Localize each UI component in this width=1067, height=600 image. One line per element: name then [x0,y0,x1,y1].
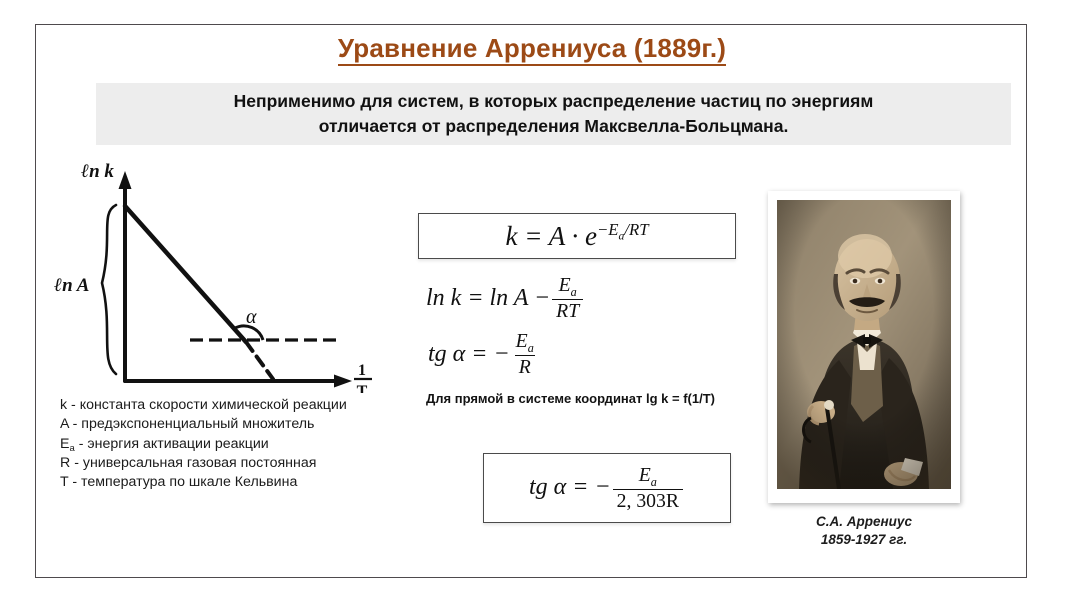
legend-text: - константа скорости химической реакции [71,397,347,413]
x-axis-arrowhead [334,375,352,388]
arrhenius-graph: ℓn k ℓn A α 1 T [50,153,395,393]
brace-label-ln-a: ℓn A [54,275,89,296]
tg-log-equation-box: tg α = − Ea 2, 303R [483,453,731,523]
symbol-legend: k - константа скорости химической реакци… [60,396,410,493]
ln-form-numerator-subscript: a [571,285,577,299]
portrait-caption: С.А. Аррениус 1859-1927 гг. [748,513,980,549]
x-axis-label-denominator: T [357,383,368,393]
tg-form-numerator-subscript: a [528,341,534,355]
tg-log-numerator-symbol: E [639,464,651,486]
x-axis-label-numerator: 1 [358,362,366,379]
ln-form-equation: ln k = ln A − Ea RT [426,275,585,321]
regression-line [125,206,246,342]
portrait-caption-dates: 1859-1927 гг. [748,531,980,549]
subtitle-box: Неприменимо для систем, в которых распре… [96,83,1011,145]
legend-text: - предэкспоненциальный множитель [73,416,315,432]
legend-symbol: A [60,416,69,432]
main-equation-equals: = [524,221,542,251]
legend-item-t: T - температура по шкале Кельвина [60,473,410,492]
y-axis-label: ℓn k [81,161,114,182]
legend-symbol: T [60,474,68,490]
subtitle-text: Неприменимо для систем, в которых распре… [234,89,874,140]
legend-symbol-subscript: a [69,443,74,454]
tg-form-numerator-symbol: E [516,330,528,352]
ln-a-brace [102,205,116,374]
tg-log-lead: tg α = − [529,474,611,501]
legend-symbol: k [60,397,67,413]
page-title-text: Уравнение Аррениуса (1889г.) [338,33,726,66]
legend-item-r: R - универсальная газовая постоянная [60,454,410,473]
main-equation-box: k = A · e−Ea/RT [418,213,736,259]
tg-log-numerator-subscript: a [651,475,657,489]
legend-item-a: A - предэкспоненциальный множитель [60,415,410,434]
note-text: Для прямой в системе координат lg k = f(… [426,391,715,406]
ln-form-numerator: Ea [555,275,581,299]
legend-item-k: k - константа скорости химической реакци… [60,396,410,415]
portrait-caption-name: С.А. Аррениус [748,513,980,531]
slide-canvas: Уравнение Аррениуса (1889г.) Неприменимо… [35,24,1027,578]
subtitle-line-1: Неприменимо для систем, в которых распре… [234,91,874,111]
tg-log-equation: tg α = − Ea 2, 303R [529,465,685,511]
tg-log-denominator: 2, 303R [613,489,683,512]
ln-form-numerator-symbol: E [559,274,571,296]
legend-text: - универсальная газовая постоянная [74,455,316,471]
main-equation-lhs: k [505,221,517,251]
main-equation-exponent-tail: /RT [624,220,648,239]
arrhenius-portrait-photo [777,200,951,489]
ln-form-lead: ln k = ln A − [426,285,550,312]
ln-form-denominator: RT [552,299,583,322]
subtitle-line-2: отличается от распределения Максвелла-Бо… [319,116,789,136]
tg-form-lead: tg α = − [428,341,510,368]
tg-form-denominator: R [515,355,535,378]
page-title: Уравнение Аррениуса (1889г.) [36,33,1028,64]
graph-svg: ℓn k ℓn A α 1 T [50,153,395,393]
legend-item-ea: Ea - энергия активации реакции [60,435,410,454]
main-equation: k = A · e−Ea/RT [505,220,648,252]
legend-text: - энергия активации реакции [79,436,269,452]
ln-form-fraction: Ea RT [552,275,583,321]
tg-form-fraction: Ea R [512,331,538,377]
legend-text: - температура по шкале Кельвина [72,474,297,490]
tg-log-numerator: Ea [635,465,661,489]
tg-log-fraction: Ea 2, 303R [613,465,683,511]
y-axis-arrowhead [119,171,132,189]
main-equation-exponent: −E [597,220,619,239]
main-equation-rhs-base: A · e [549,221,597,251]
portrait-frame [768,191,960,503]
legend-symbol: R [60,455,70,471]
tg-form-equation: tg α = − Ea R [428,331,540,377]
regression-line-dashed-extension [246,342,273,379]
tg-form-numerator: Ea [512,331,538,355]
angle-label-alpha: α [246,306,257,328]
